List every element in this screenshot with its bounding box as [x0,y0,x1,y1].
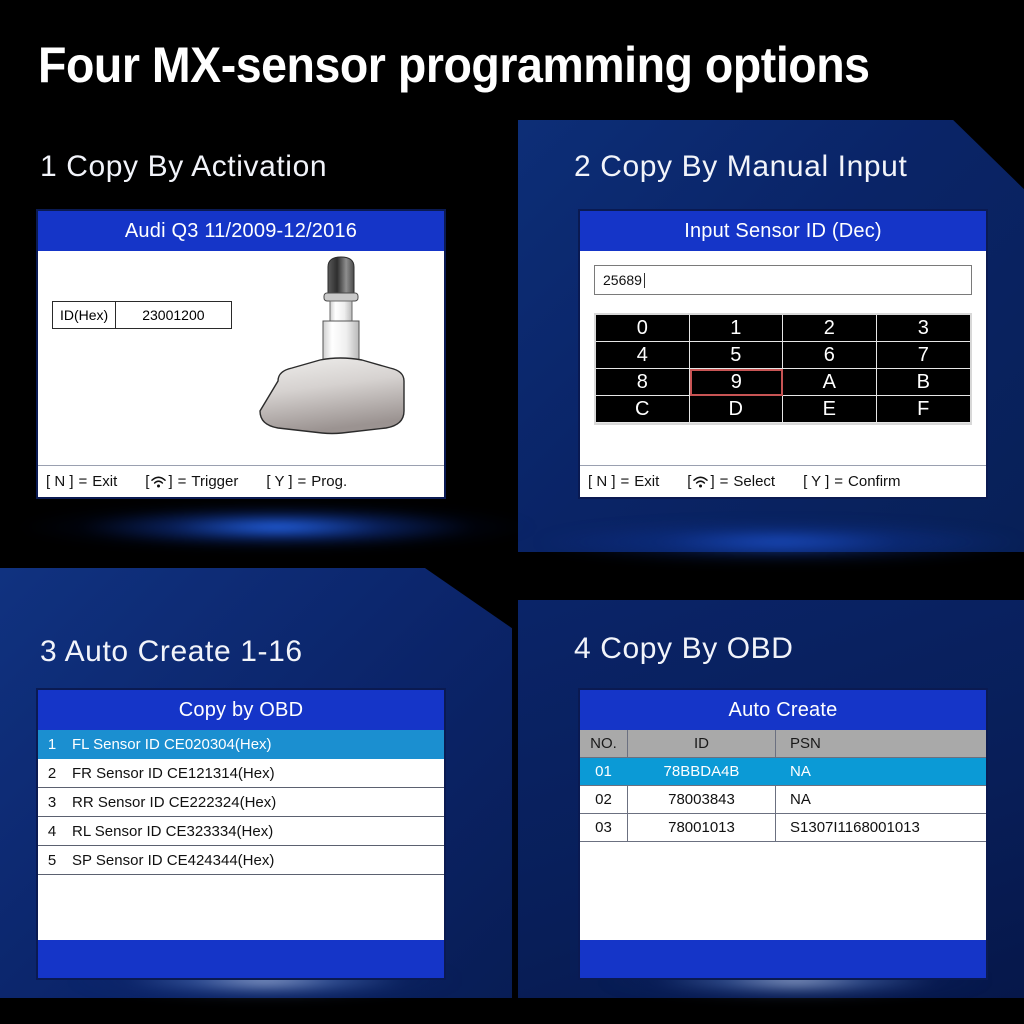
list-item[interactable]: 5SP Sensor ID CE424344(Hex) [38,846,444,875]
list-item-number: 1 [38,736,66,753]
screen-1-header: Audi Q3 11/2009-12/2016 [38,211,444,251]
panel-3-screen: Copy by OBD 1FL Sensor ID CE020304(Hex)2… [36,688,446,980]
id-hex-value: 23001200 [116,302,230,328]
panel-2-caption: 2 Copy By Manual Input [574,150,907,184]
panel-3-caption: 3 Auto Create 1-16 [40,635,303,669]
table-row[interactable]: 0378001013S1307I1168001013 [580,814,986,842]
screen-1-footer: [ N ] = Exit [ ] = Trigger [38,465,444,497]
column-header-no: NO. [580,730,628,757]
keypad-key-2[interactable]: 2 [783,315,877,342]
footer-key-confirm: [ Y ] = Confirm [803,473,900,490]
keypad-key-3[interactable]: 3 [877,315,971,342]
table-row[interactable]: 0278003843NA [580,786,986,814]
screen-4-header: Auto Create [580,690,986,730]
wifi-icon: [ ] [687,473,714,490]
screen-2-footer: [ N ] = Exit [ ] = Select [580,465,986,497]
column-header-id: ID [628,730,776,757]
sensor-id-input[interactable]: 25689 [594,265,972,295]
list-item[interactable]: 2FR Sensor ID CE121314(Hex) [38,759,444,788]
screen-2-header: Input Sensor ID (Dec) [580,211,986,251]
sensor-list: 1FL Sensor ID CE020304(Hex)2FR Sensor ID… [38,730,444,940]
cell-psn: NA [776,758,986,785]
cell-no: 01 [580,758,628,785]
list-item-number: 5 [38,852,66,869]
keypad-key-5[interactable]: 5 [690,342,784,369]
screen-3-footer-bar [38,940,444,978]
obd-table: NO.IDPSN0178BBDA4BNA0278003843NA03780010… [580,730,986,940]
list-item-label: FR Sensor ID CE121314(Hex) [66,765,275,782]
keypad-key-b[interactable]: B [877,369,971,396]
list-item-label: RL Sensor ID CE323334(Hex) [66,823,273,840]
footer-key-trigger: [ ] = Trigger [145,473,238,490]
list-item-label: SP Sensor ID CE424344(Hex) [66,852,274,869]
column-header-psn: PSN [776,730,986,757]
page-title: Four MX-sensor programming options [38,30,931,100]
footer-key-select: [ ] = Select [687,473,775,490]
list-item[interactable]: 1FL Sensor ID CE020304(Hex) [38,730,444,759]
keypad-key-a[interactable]: A [783,369,877,396]
list-item-label: RR Sensor ID CE222324(Hex) [66,794,276,811]
footer-key-exit: [ N ] = Exit [588,473,659,490]
screen-4-body: NO.IDPSN0178BBDA4BNA0278003843NA03780010… [580,730,986,940]
cell-psn: S1307I1168001013 [776,814,986,841]
hex-keypad[interactable]: 0123456789ABCDEF [594,313,972,425]
table-header-row: NO.IDPSN [580,730,986,758]
keypad-key-9[interactable]: 9 [690,369,784,396]
sensor-id-input-value: 25689 [603,272,642,288]
keypad-key-f[interactable]: F [877,396,971,423]
cell-id: 78001013 [628,814,776,841]
keypad-key-8[interactable]: 8 [596,369,690,396]
cell-id: 78003843 [628,786,776,813]
tpms-sensor-icon [256,255,426,445]
text-caret [644,273,645,288]
keypad-key-0[interactable]: 0 [596,315,690,342]
panel-1-screen: Audi Q3 11/2009-12/2016 ID(Hex) 23001200 [36,209,446,499]
screen-1-body: ID(Hex) 23001200 [38,251,444,465]
screen-2-body: 25689 0123456789ABCDEF [580,251,986,465]
table-row[interactable]: 0178BBDA4BNA [580,758,986,786]
panel-4-caption: 4 Copy By OBD [574,632,794,666]
screen-3-body: 1FL Sensor ID CE020304(Hex)2FR Sensor ID… [38,730,444,940]
list-item-number: 2 [38,765,66,782]
keypad-key-c[interactable]: C [596,396,690,423]
poster-root: Four MX-sensor programming options 1 Cop… [0,0,1024,1024]
cell-id: 78BBDA4B [628,758,776,785]
keypad-key-4[interactable]: 4 [596,342,690,369]
wifi-icon: [ ] [145,473,172,490]
list-item-label: FL Sensor ID CE020304(Hex) [66,736,272,753]
keypad-key-6[interactable]: 6 [783,342,877,369]
list-item-number: 3 [38,794,66,811]
footer-key-exit: [ N ] = Exit [46,473,117,490]
id-hex-label: ID(Hex) [53,302,116,328]
keypad-key-7[interactable]: 7 [877,342,971,369]
list-item[interactable]: 3RR Sensor ID CE222324(Hex) [38,788,444,817]
list-item-number: 4 [38,823,66,840]
list-item[interactable]: 4RL Sensor ID CE323334(Hex) [38,817,444,846]
sensor-id-input-wrap: 25689 [594,265,972,295]
cell-no: 03 [580,814,628,841]
keypad-key-e[interactable]: E [783,396,877,423]
keypad-key-1[interactable]: 1 [690,315,784,342]
screen-3-header: Copy by OBD [38,690,444,730]
footer-key-prog: [ Y ] = Prog. [266,473,347,490]
panel-4-screen: Auto Create NO.IDPSN0178BBDA4BNA02780038… [578,688,988,980]
cell-psn: NA [776,786,986,813]
panel-2-screen: Input Sensor ID (Dec) 25689 0123456789AB… [578,209,988,499]
sensor-id-table: ID(Hex) 23001200 [52,301,232,329]
screen-4-footer-bar [580,940,986,978]
panel-1-caption: 1 Copy By Activation [40,150,327,184]
cell-no: 02 [580,786,628,813]
keypad-key-d[interactable]: D [690,396,784,423]
glow-reflection-top-left [0,498,560,556]
